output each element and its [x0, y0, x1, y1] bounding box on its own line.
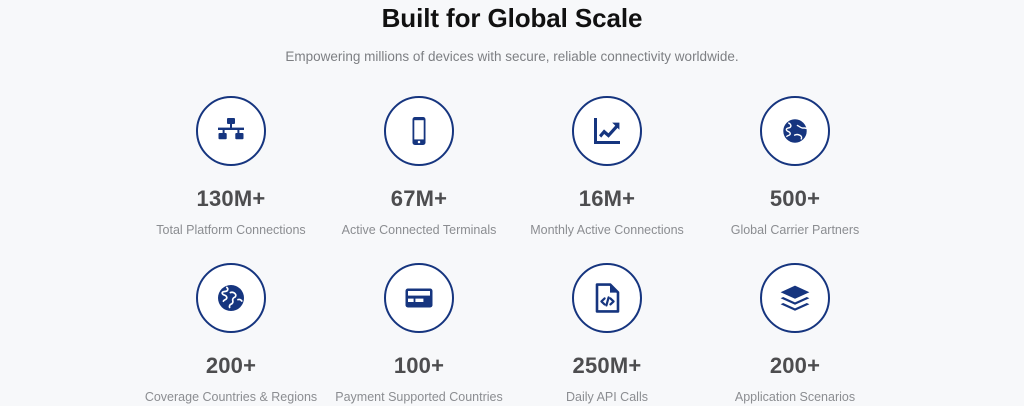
stat-label: Global Carrier Partners: [731, 222, 860, 239]
global-scale-stats-section: Built for Global Scale Empowering millio…: [0, 0, 1024, 403]
stat-value: 130M+: [197, 186, 266, 212]
globe-africa-icon: [196, 263, 266, 333]
globe-icon: [760, 96, 830, 166]
stat-label: Total Platform Connections: [156, 222, 305, 239]
stat-card: 16M+ Monthly Active Connections: [513, 96, 701, 239]
stat-value: 67M+: [391, 186, 447, 212]
stat-value: 250M+: [573, 353, 642, 379]
section-header: Built for Global Scale Empowering millio…: [0, 0, 1024, 66]
stat-value: 100+: [394, 353, 444, 379]
stat-label: Active Connected Terminals: [342, 222, 497, 239]
credit-card-icon: [384, 263, 454, 333]
stat-card: 100+ Payment Supported Countries: [325, 263, 513, 406]
stats-grid: 130M+ Total Platform Connections 67M+ Ac…: [0, 96, 1024, 406]
stat-card: 250M+ Daily API Calls: [513, 263, 701, 406]
stat-label: Daily API Calls: [566, 389, 648, 406]
mobile-phone-icon: [384, 96, 454, 166]
stat-label: Payment Supported Countries: [335, 389, 502, 406]
stat-card: 200+ Application Scenarios: [701, 263, 889, 406]
stat-card: 130M+ Total Platform Connections: [137, 96, 325, 239]
network-sitemap-icon: [196, 96, 266, 166]
stat-value: 200+: [206, 353, 256, 379]
stat-value: 200+: [770, 353, 820, 379]
stat-label: Monthly Active Connections: [530, 222, 684, 239]
chart-line-up-icon: [572, 96, 642, 166]
file-code-icon: [572, 263, 642, 333]
stat-label: Coverage Countries & Regions: [145, 389, 317, 406]
layers-stack-icon: [760, 263, 830, 333]
stat-card: 500+ Global Carrier Partners: [701, 96, 889, 239]
stat-card: 200+ Coverage Countries & Regions: [137, 263, 325, 406]
stat-value: 16M+: [579, 186, 635, 212]
section-subtitle: Empowering millions of devices with secu…: [0, 34, 1024, 66]
stat-label: Application Scenarios: [735, 389, 855, 406]
page-title: Built for Global Scale: [0, 1, 1024, 34]
stat-value: 500+: [770, 186, 820, 212]
stat-card: 67M+ Active Connected Terminals: [325, 96, 513, 239]
